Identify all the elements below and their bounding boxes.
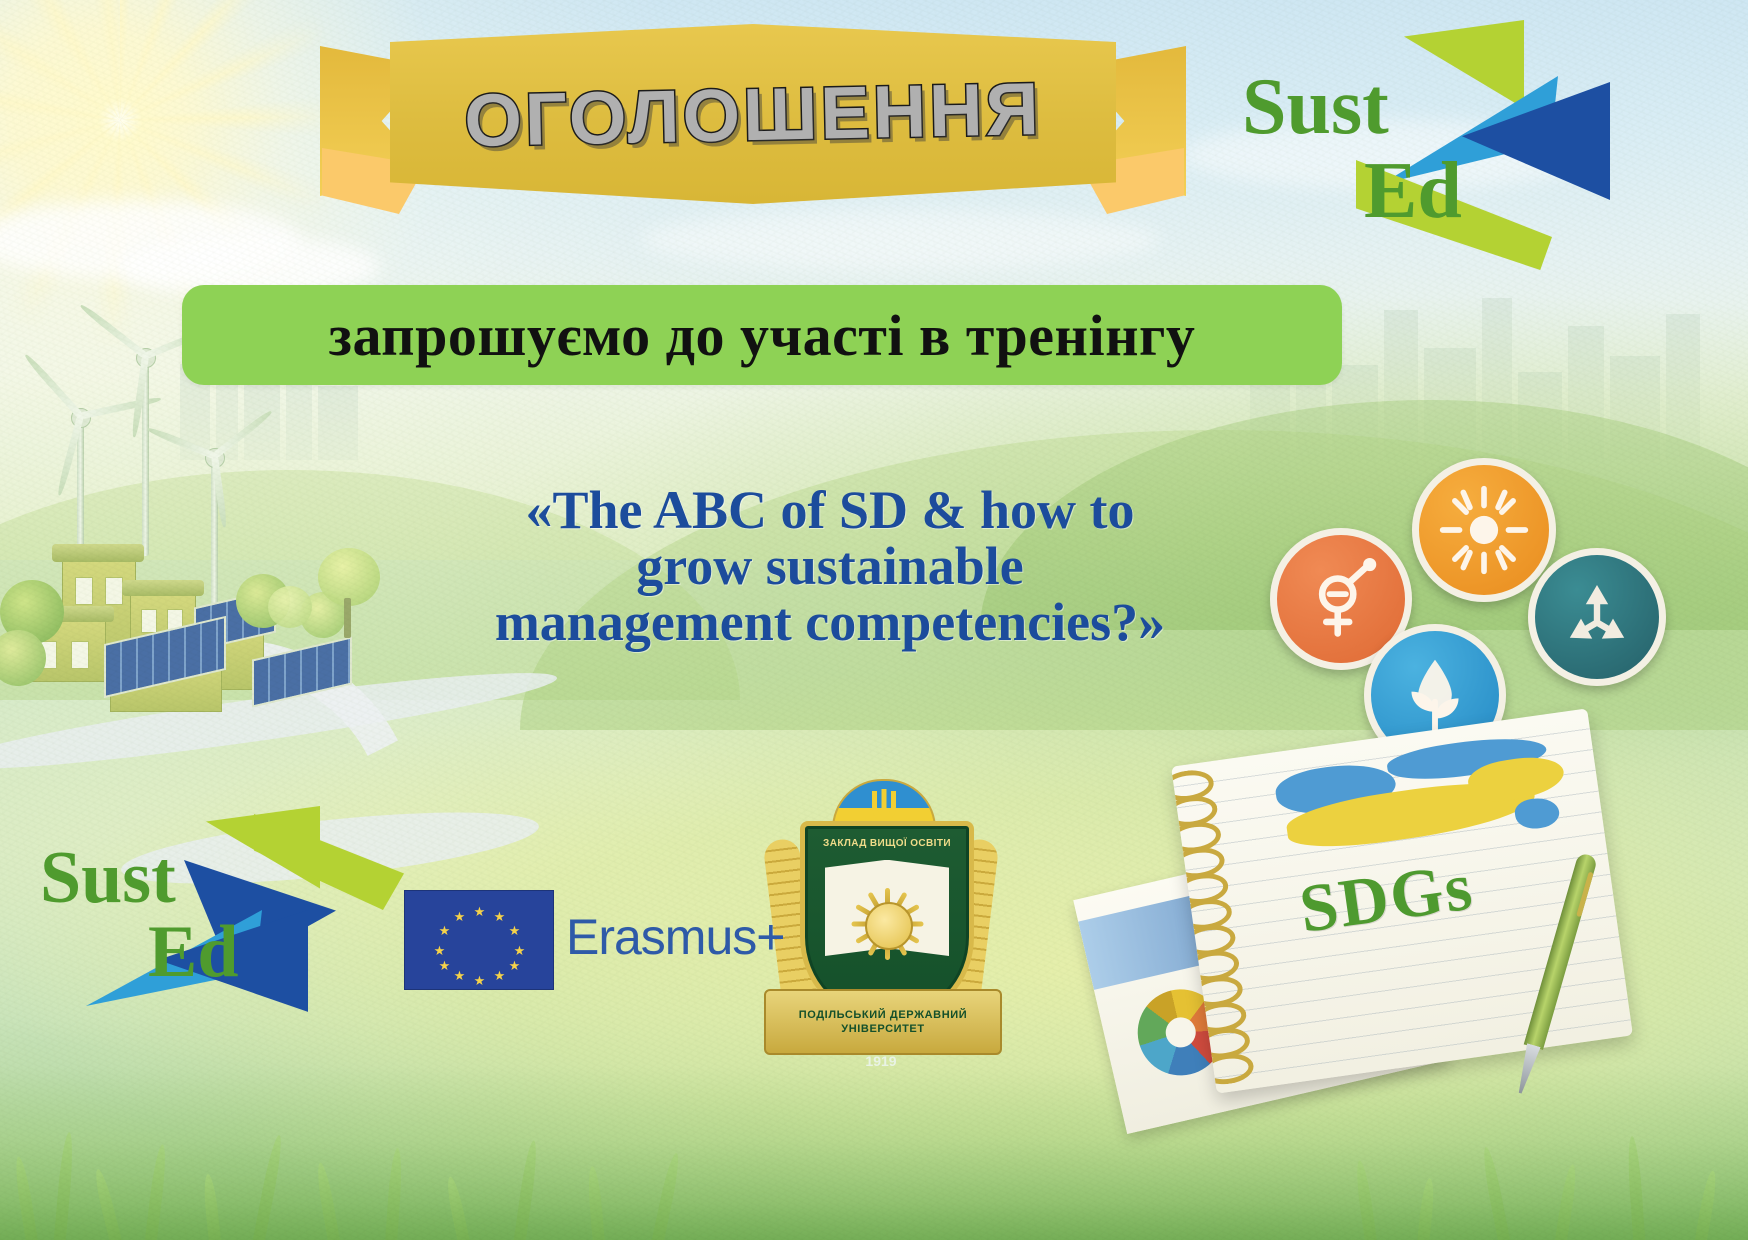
erasmus-label: Erasmus+: [566, 908, 784, 966]
emblem-scroll-line1: ПОДІЛЬСЬКИЙ ДЕРЖАВНИЙ: [799, 1008, 968, 1022]
emblem-sun-icon: [851, 888, 923, 960]
invitation-text: запрошуємо до участі в тренінгу: [329, 302, 1196, 369]
foreground-grass: [0, 1110, 1748, 1240]
announcement-title: ОГОЛОШЕННЯ: [388, 16, 1118, 211]
title-line-2: grow sustainable: [330, 538, 1330, 594]
susted-word-sust: Sust: [40, 836, 176, 921]
swoosh-lime: [1404, 20, 1524, 112]
erasmus-plus-logo[interactable]: ★ ★ ★ ★ ★ ★ ★ ★ ★ ★ ★ ★ Erasmus+: [404, 890, 764, 990]
susted-logo-top[interactable]: Sust Ed: [1390, 20, 1730, 270]
affordable-energy-sun-icon[interactable]: [1412, 458, 1556, 602]
tree-icon: [268, 586, 312, 628]
recycling-icon[interactable]: [1528, 548, 1666, 686]
announcement-ribbon: ОГОЛОШЕННЯ: [320, 18, 1186, 218]
emblem-founding-year: 1919: [855, 1053, 907, 1069]
susted-word-sust: Sust: [1242, 62, 1389, 153]
emblem-scroll-banner: ПОДІЛЬСЬКИЙ ДЕРЖАВНИЙ УНІВЕРСИТЕТ: [764, 989, 1002, 1055]
eu-flag-icon: ★ ★ ★ ★ ★ ★ ★ ★ ★ ★ ★ ★: [404, 890, 554, 990]
emblem-top-band: ЗАКЛАД ВИЩОЇ ОСВІТИ: [805, 838, 969, 849]
poster-canvas: ОГОЛОШЕННЯ запрошуємо до участі в тренін…: [0, 0, 1748, 1240]
university-emblem[interactable]: ЗАКЛАД ВИЩОЇ ОСВІТИ ПОДІЛЬСЬКИЙ ДЕРЖАВНИ…: [756, 775, 1006, 1075]
roof: [122, 580, 204, 596]
title-line-1: «The ABC of SD & how to: [330, 482, 1330, 538]
training-title: «The ABC of SD & how to grow sustainable…: [330, 482, 1330, 650]
title-line-3: management competencies?»: [330, 594, 1330, 650]
invitation-banner: запрошуємо до участі в тренінгу: [182, 285, 1342, 385]
roof: [52, 544, 144, 562]
emblem-scroll-line2: УНІВЕРСИТЕТ: [841, 1022, 924, 1036]
susted-word-ed: Ed: [148, 910, 239, 995]
susted-word-ed: Ed: [1364, 146, 1462, 237]
